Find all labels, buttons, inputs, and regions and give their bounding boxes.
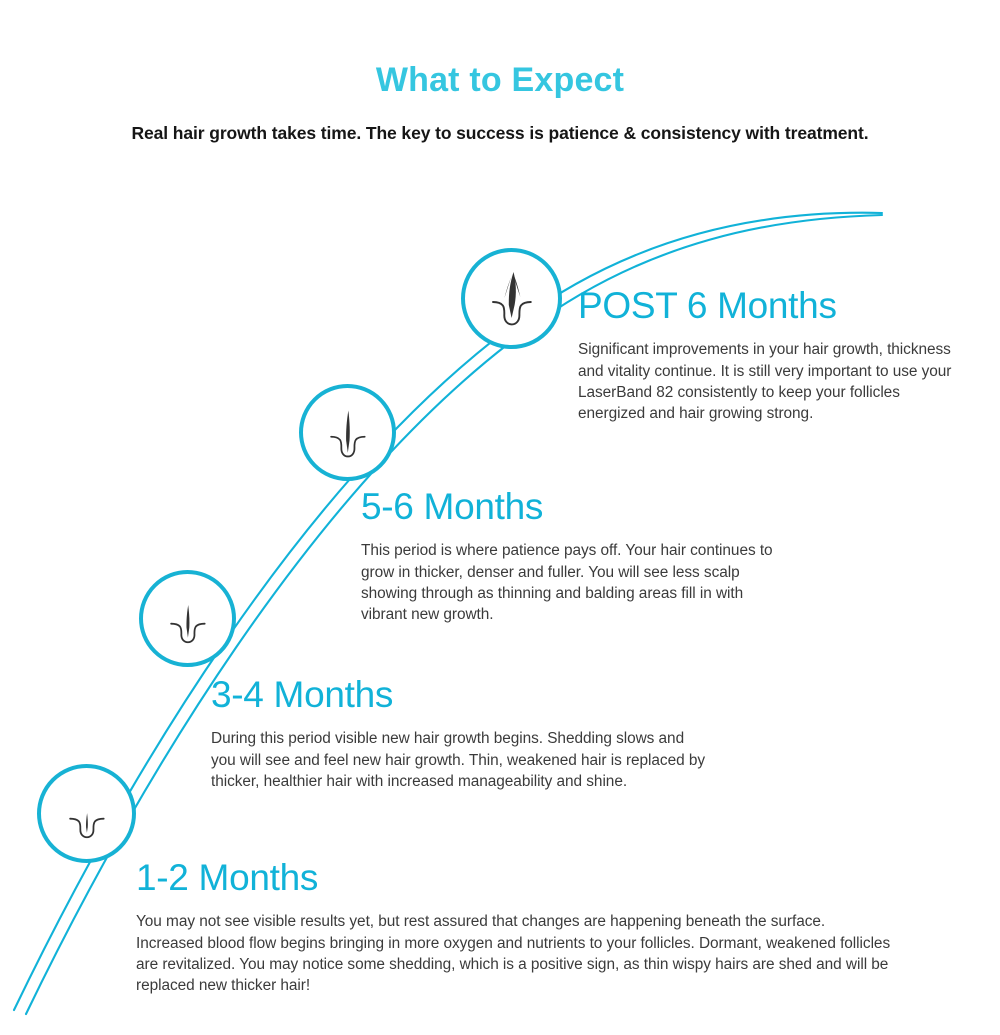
stage-heading-5-6-months: 5-6 Months [361, 486, 791, 527]
timeline-node-3-4-months[interactable] [139, 570, 236, 667]
stage-heading-1-2-months: 1-2 Months [136, 857, 896, 898]
timeline-node-post-6-months[interactable] [461, 248, 562, 349]
timeline-stage-post-6-months: POST 6 Months Significant improvements i… [578, 285, 963, 424]
timeline-node-5-6-months[interactable] [299, 384, 396, 481]
hair-follicle-icon-tall [318, 403, 378, 463]
page-title: What to Expect [0, 0, 1000, 99]
hair-follicle-icon-full [480, 267, 544, 331]
stage-body-post-6-months: Significant improvements in your hair gr… [578, 326, 963, 423]
timeline-node-1-2-months[interactable] [37, 764, 136, 863]
stage-heading-post-6-months: POST 6 Months [578, 285, 963, 326]
page-subtitle: Real hair growth takes time. The key to … [0, 99, 1000, 144]
stage-body-3-4-months: During this period visible new hair grow… [211, 715, 711, 791]
stage-body-1-2-months: You may not see visible results yet, but… [136, 898, 896, 995]
stage-body-5-6-months: This period is where patience pays off. … [361, 527, 791, 624]
timeline-stage-3-4-months: 3-4 Months During this period visible ne… [211, 674, 711, 792]
hair-follicle-icon-medium [158, 589, 218, 649]
page-header: What to Expect Real hair growth takes ti… [0, 0, 1000, 144]
stage-heading-3-4-months: 3-4 Months [211, 674, 711, 715]
timeline-stage-5-6-months: 5-6 Months This period is where patience… [361, 486, 791, 625]
hair-follicle-icon-short [57, 784, 117, 844]
timeline-stage-1-2-months: 1-2 Months You may not see visible resul… [136, 857, 896, 996]
